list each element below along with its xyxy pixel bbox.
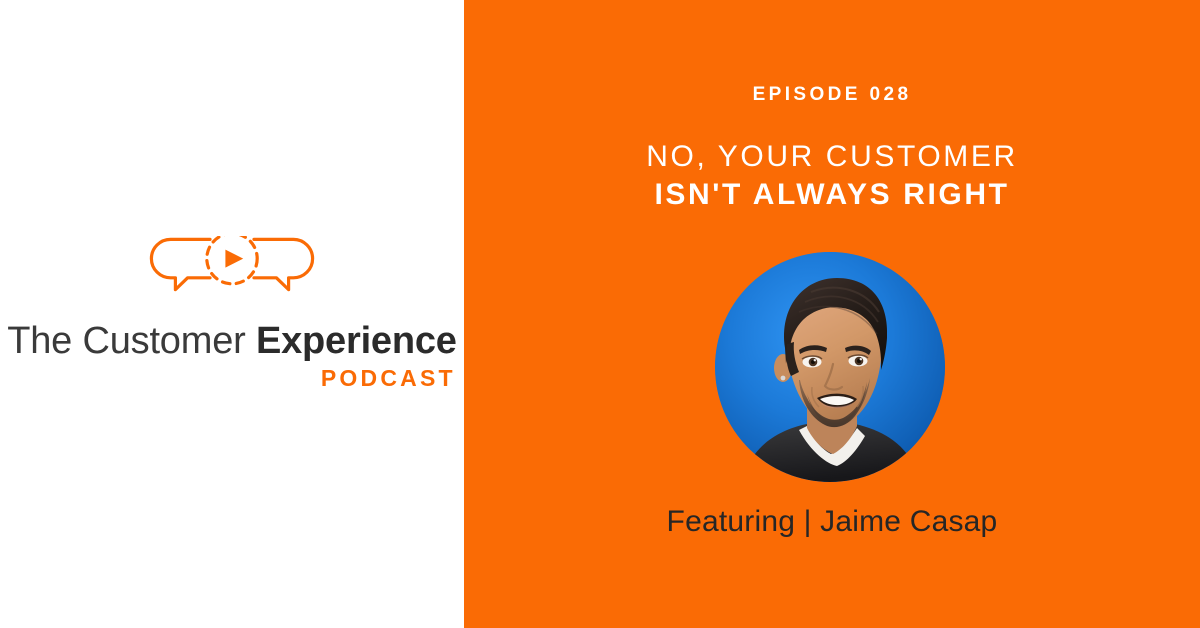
wordmark-experience: Experience bbox=[256, 320, 457, 362]
wordmark-podcast: PODCAST bbox=[321, 367, 456, 390]
episode-panel: EPISODE 028 NO, YOUR CUSTOMER ISN'T ALWA… bbox=[464, 0, 1200, 628]
guest-portrait-jaime-casap bbox=[715, 252, 945, 482]
podcast-logo-lockup: The Customer Experience PODCAST bbox=[0, 236, 464, 390]
play-triangle-icon bbox=[225, 250, 243, 268]
podcast-speech-bubbles-play-icon bbox=[148, 236, 316, 302]
podcast-episode-cover: The Customer Experience PODCAST EPISODE … bbox=[0, 0, 1200, 628]
wordmark-primary: The Customer Experience bbox=[7, 322, 457, 360]
episode-number-label: EPISODE 028 bbox=[464, 84, 1200, 106]
episode-title-line-1: NO, YOUR CUSTOMER bbox=[464, 138, 1200, 176]
guest-credit: Featuring | Jaime Casap bbox=[464, 505, 1200, 539]
episode-title-line-2: ISN'T ALWAYS RIGHT bbox=[464, 176, 1200, 214]
wordmark-the-customer: The Customer bbox=[7, 320, 256, 362]
episode-title: NO, YOUR CUSTOMER ISN'T ALWAYS RIGHT bbox=[464, 138, 1200, 214]
guest-portrait-illustration bbox=[715, 252, 945, 482]
podcast-wordmark: The Customer Experience PODCAST bbox=[7, 322, 457, 390]
brand-panel: The Customer Experience PODCAST bbox=[0, 0, 464, 628]
